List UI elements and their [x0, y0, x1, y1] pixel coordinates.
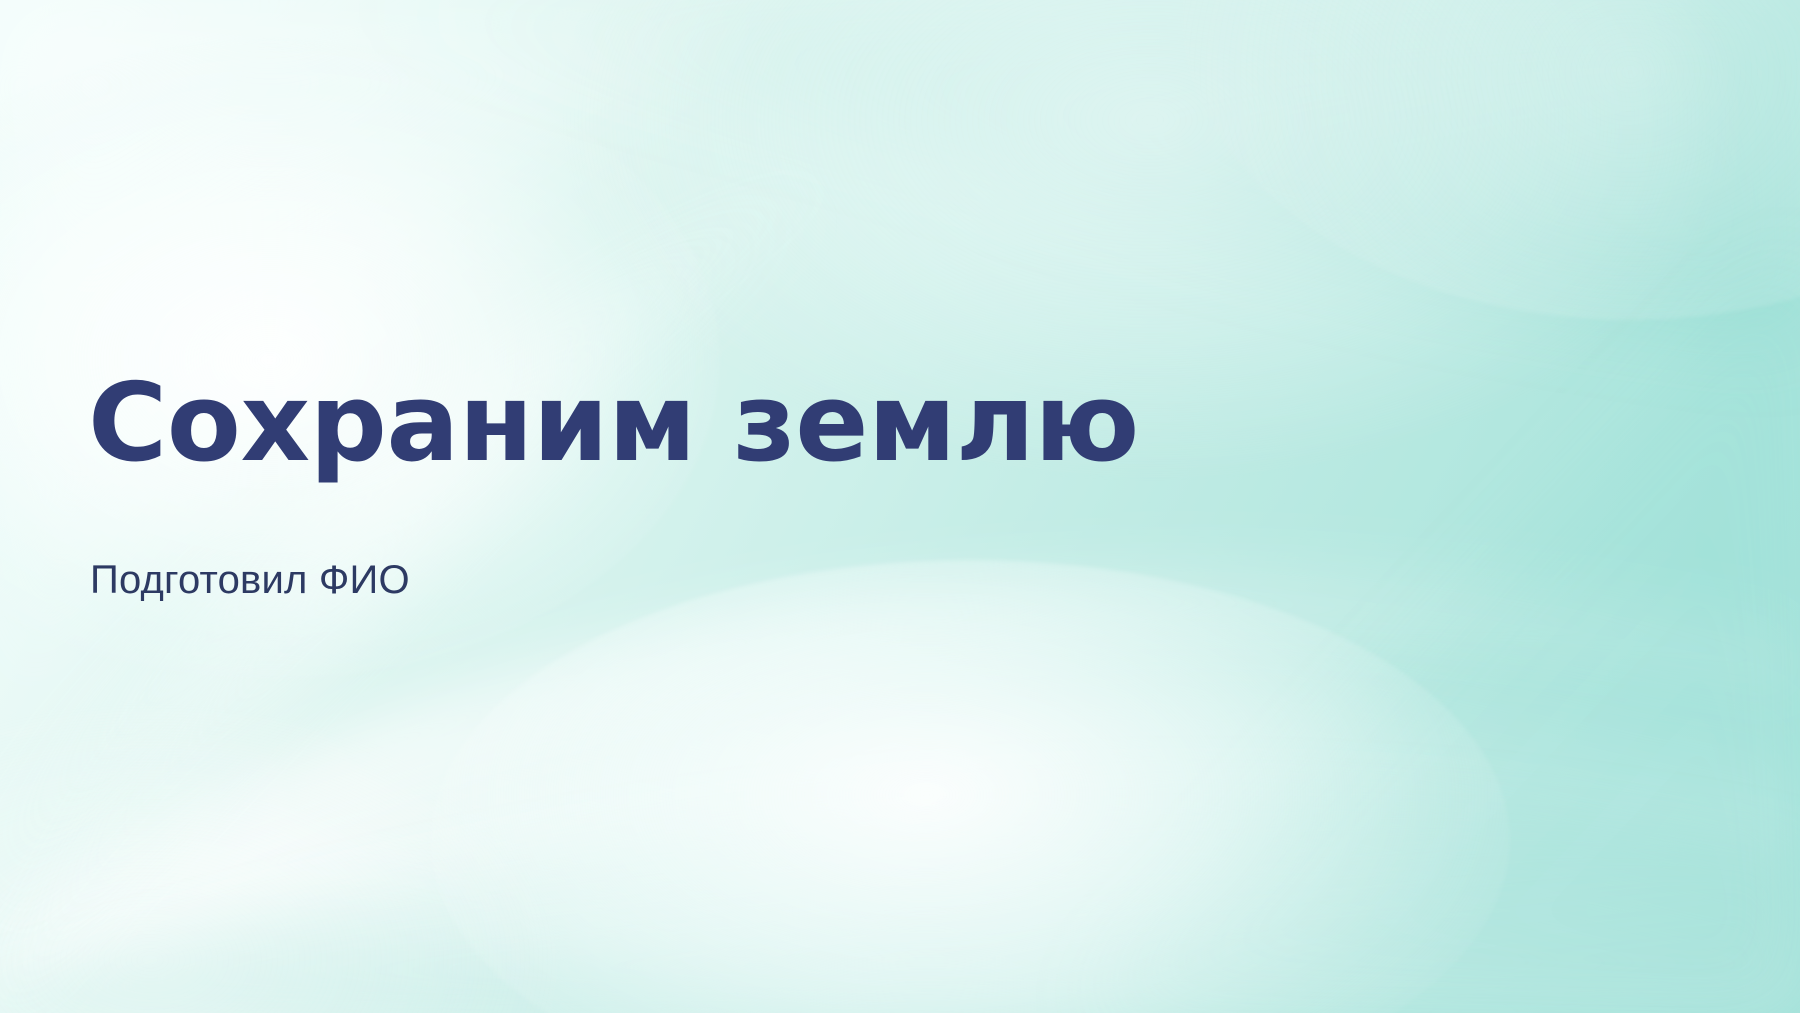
slide-title: Сохраним землю [88, 370, 1139, 478]
slide-content: Сохраним землю Подготовил ФИО [88, 0, 1588, 1013]
slide-subtitle-author: Подготовил ФИО [90, 556, 410, 604]
title-slide: Сохраним землю Подготовил ФИО [0, 0, 1800, 1013]
